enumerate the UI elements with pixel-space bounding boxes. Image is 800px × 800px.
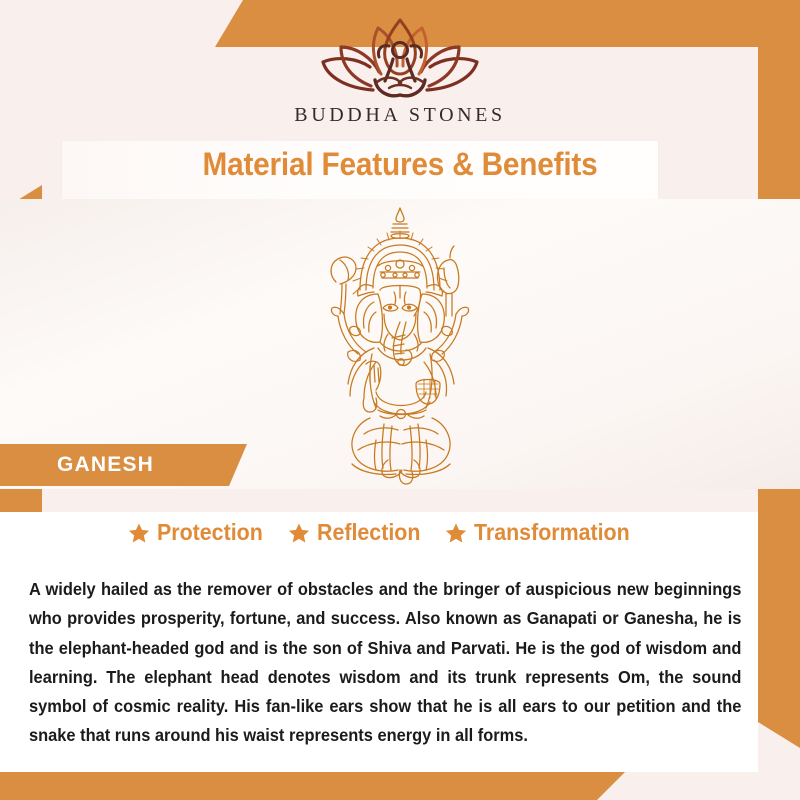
keyword-item-reflection: Reflection <box>288 519 428 546</box>
brand-wordmark: BUDDHA STONES <box>294 104 505 127</box>
ganesh-banner-label: GANESH <box>57 453 154 477</box>
keyword-item-protection: Protection <box>128 519 271 546</box>
ganesha-line-art-illustration <box>288 202 513 487</box>
keyword-label: Protection <box>157 519 263 546</box>
star-icon <box>445 522 467 544</box>
keyword-item-transformation: Transformation <box>445 519 641 546</box>
poster-root: BUDDHA STONES Material Features & Benefi… <box>0 0 800 800</box>
star-icon <box>128 522 150 544</box>
keyword-list: Protection Reflection Transformation <box>0 519 770 546</box>
page-title: Material Features & Benefits <box>28 146 772 183</box>
star-icon <box>288 522 310 544</box>
lotus-meditation-icon <box>315 14 485 100</box>
keyword-label: Transformation <box>474 519 630 546</box>
description-paragraph: A widely hailed as the remover of obstac… <box>29 575 741 750</box>
keyword-label: Reflection <box>317 519 420 546</box>
frame-bottom-bar <box>0 772 625 800</box>
brand-logo: BUDDHA STONES <box>0 14 800 139</box>
ganesh-banner: GANESH <box>0 444 247 486</box>
